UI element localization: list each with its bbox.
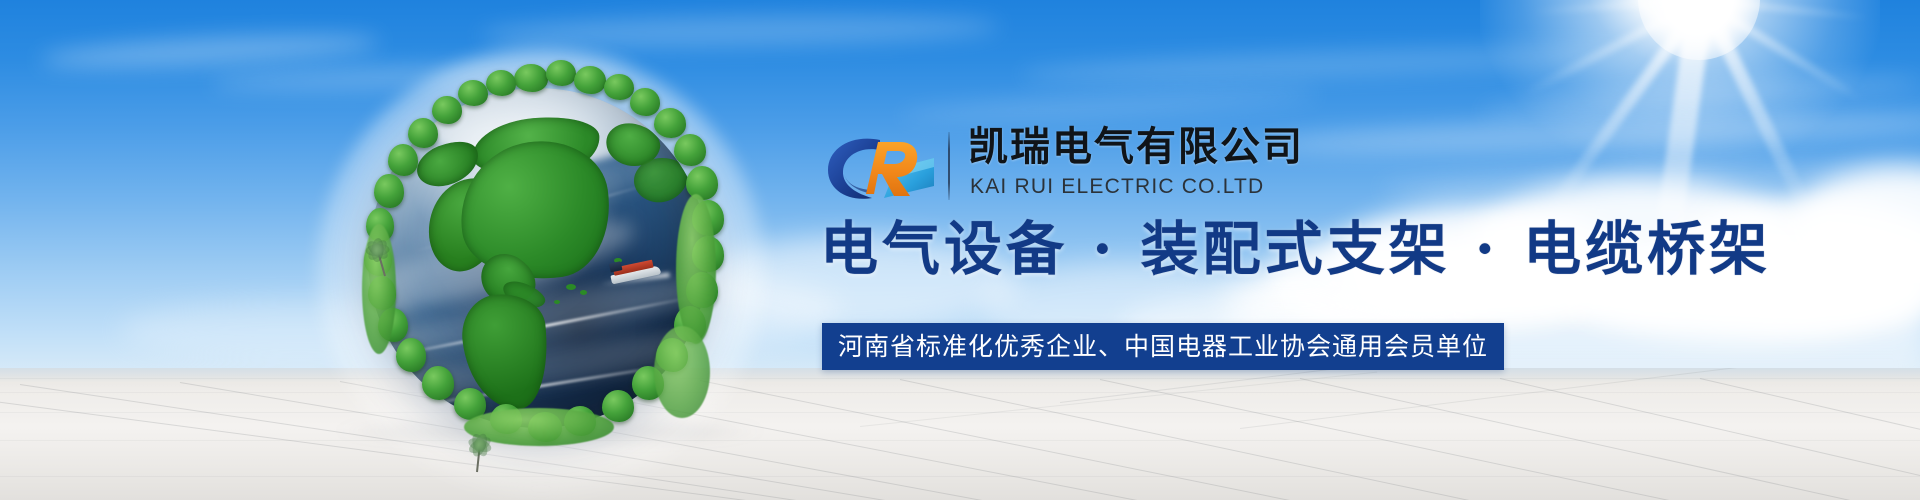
company-name-en: KAI RUI ELECTRIC CO.LTD [970,174,1264,199]
green-earth-globe [298,42,784,482]
cr-monogram-logo-icon [822,128,940,206]
logo-divider [948,132,950,200]
credentials-bar: 河南省标准化优秀企业、中国电器工业协会通用会员单位 [822,323,1504,370]
main-slogan: 电气设备 · 装配式支架 · 电缆桥架 [820,216,1771,282]
tiled-pavement [0,368,1920,500]
credentials-text: 河南省标准化优秀企业、中国电器工业协会通用会员单位 [838,332,1488,362]
globe-sphere [368,88,708,428]
hero-banner: 凯瑞电气有限公司 KAI RUI ELECTRIC CO.LTD 电气设备 · … [0,0,1920,500]
company-name-cn: 凯瑞电气有限公司 [968,124,1304,170]
brand-block: 凯瑞电气有限公司 KAI RUI ELECTRIC CO.LTD [822,124,1582,214]
